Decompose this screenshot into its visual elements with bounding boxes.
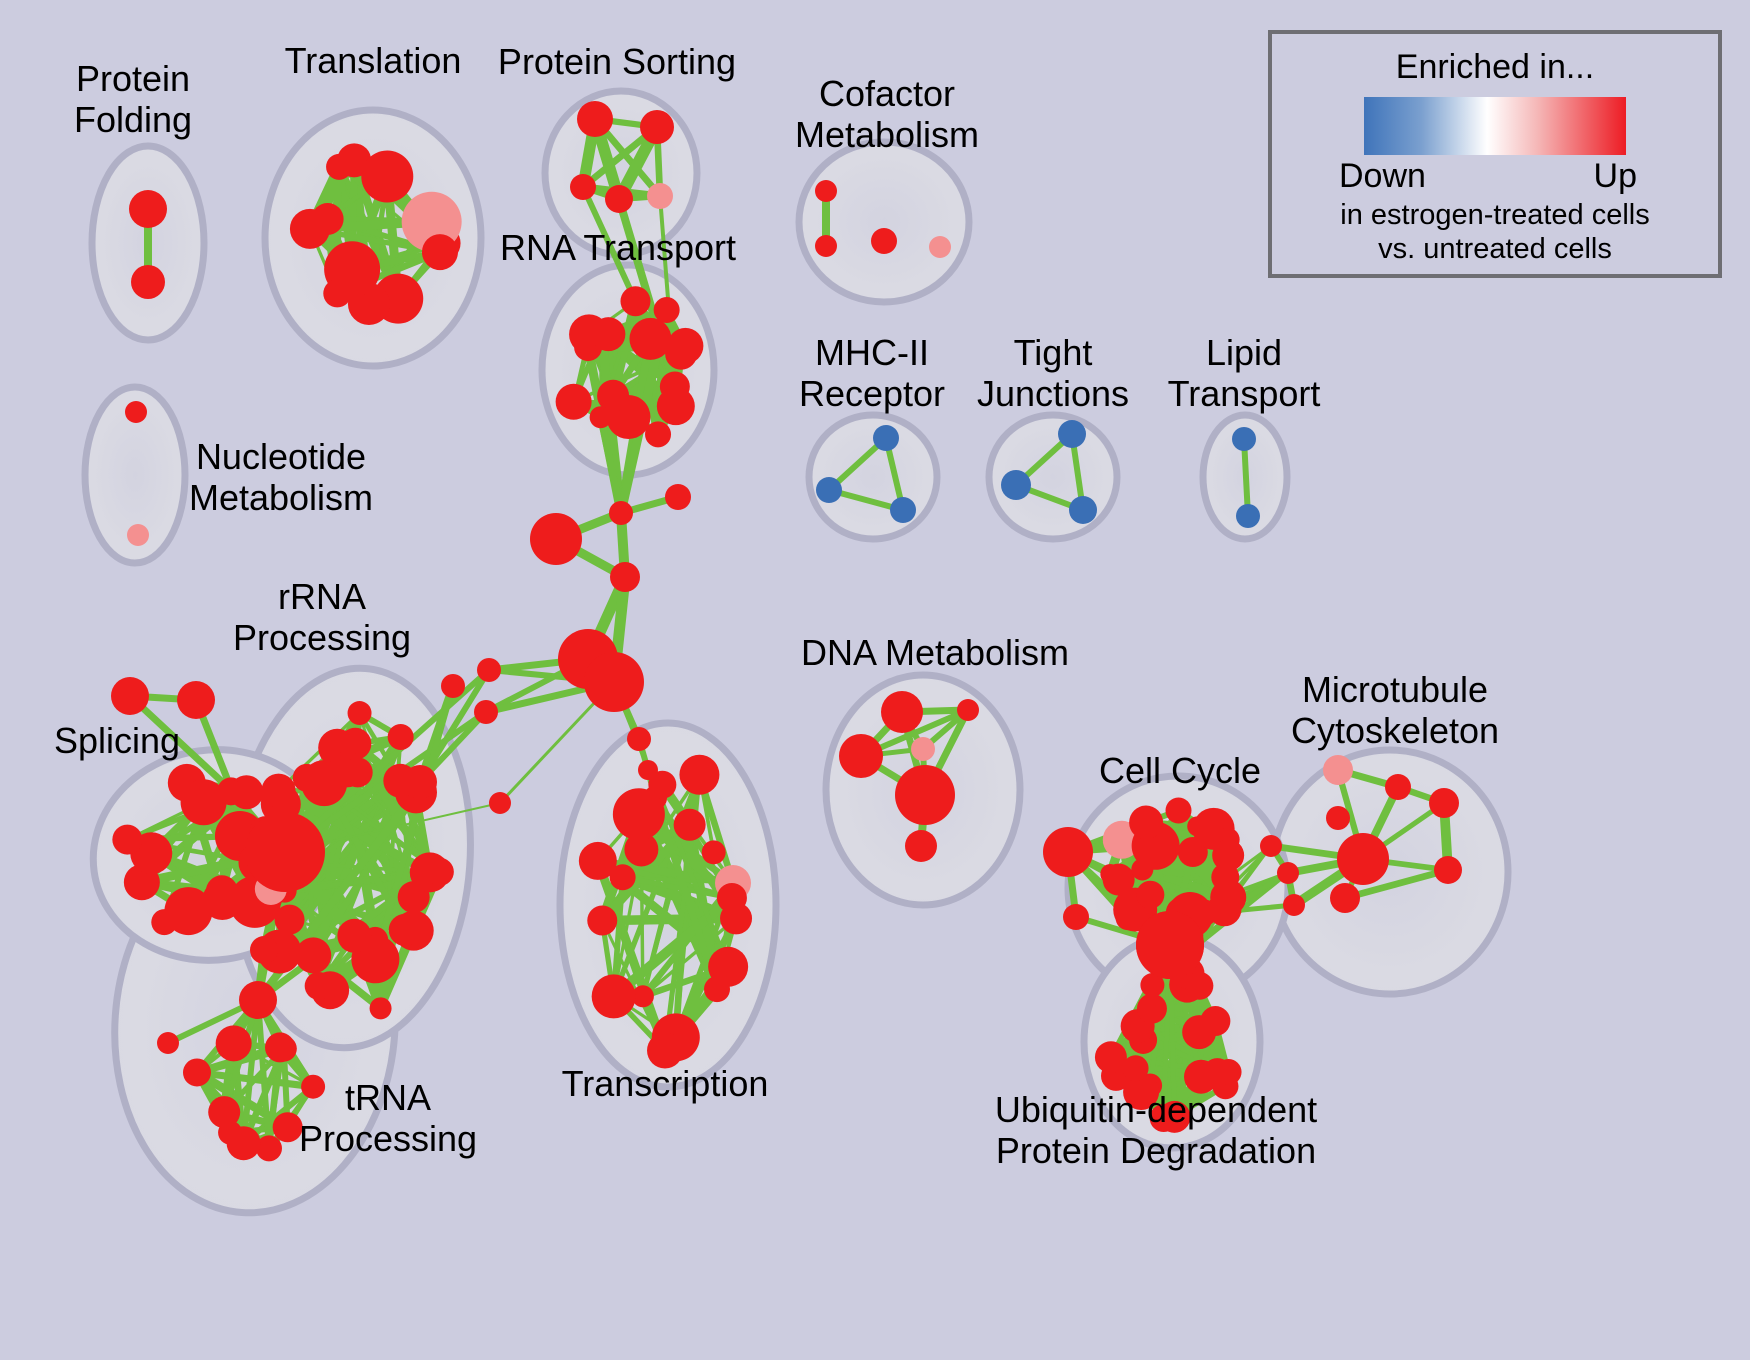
network-node[interactable]: [337, 919, 371, 953]
network-node[interactable]: [301, 1075, 325, 1099]
network-node[interactable]: [657, 387, 695, 425]
network-node[interactable]: [648, 771, 676, 799]
network-node[interactable]: [474, 700, 498, 724]
network-node[interactable]: [556, 384, 592, 420]
network-node[interactable]: [605, 185, 633, 213]
network-node[interactable]: [129, 190, 167, 228]
network-node[interactable]: [592, 974, 636, 1018]
network-node[interactable]: [627, 727, 651, 751]
network-node[interactable]: [275, 905, 305, 935]
legend-low-label: Down: [1339, 157, 1426, 196]
network-node[interactable]: [1260, 835, 1282, 857]
network-node[interactable]: [1166, 797, 1192, 823]
network-node[interactable]: [1158, 1101, 1190, 1133]
network-node[interactable]: [348, 701, 372, 725]
network-node[interactable]: [665, 484, 691, 510]
network-node[interactable]: [127, 524, 149, 546]
network-node[interactable]: [647, 1033, 683, 1069]
network-node[interactable]: [245, 812, 325, 892]
network-node[interactable]: [112, 825, 142, 855]
network-node[interactable]: [679, 755, 719, 795]
network-node[interactable]: [1063, 904, 1089, 930]
network-node[interactable]: [111, 677, 149, 715]
network-node[interactable]: [1337, 833, 1389, 885]
legend-panel: Enriched in... Down Up in estrogen-treat…: [1268, 30, 1722, 278]
network-node[interactable]: [295, 937, 331, 973]
legend-title: Enriched in...: [1272, 48, 1718, 87]
network-node[interactable]: [1137, 994, 1167, 1024]
network-node[interactable]: [157, 1032, 179, 1054]
network-node[interactable]: [1001, 470, 1031, 500]
network-node[interactable]: [1330, 883, 1360, 913]
network-node[interactable]: [403, 765, 437, 799]
network-node[interactable]: [1385, 774, 1411, 800]
network-node[interactable]: [610, 864, 636, 890]
legend-caption-line2: vs. untreated cells: [1272, 233, 1718, 267]
cluster-ellipse-mhc-ii-receptor: [809, 415, 937, 539]
network-figure: Protein Folding Translation Nucleotide M…: [0, 0, 1750, 1360]
network-node[interactable]: [873, 425, 899, 451]
network-node[interactable]: [1236, 504, 1260, 528]
network-node[interactable]: [239, 981, 277, 1019]
network-node[interactable]: [477, 658, 501, 682]
legend-caption-line1: in estrogen-treated cells: [1272, 199, 1718, 233]
network-node[interactable]: [667, 328, 703, 364]
network-node[interactable]: [177, 681, 215, 719]
network-node[interactable]: [957, 699, 979, 721]
network-node[interactable]: [610, 562, 640, 592]
network-node[interactable]: [262, 774, 296, 808]
network-node[interactable]: [208, 1096, 240, 1128]
network-node[interactable]: [1211, 863, 1239, 891]
network-node[interactable]: [570, 174, 596, 200]
legend-caption: in estrogen-treated cells vs. untreated …: [1272, 199, 1718, 266]
network-node[interactable]: [674, 809, 706, 841]
network-node[interactable]: [1323, 755, 1353, 785]
network-node[interactable]: [151, 909, 177, 935]
legend-endpoints: Down Up: [1345, 157, 1645, 197]
network-node[interactable]: [1136, 911, 1204, 979]
network-node[interactable]: [839, 734, 883, 778]
network-node[interactable]: [1185, 972, 1213, 1000]
network-node[interactable]: [654, 297, 680, 323]
network-node[interactable]: [422, 234, 458, 270]
network-node[interactable]: [640, 110, 674, 144]
network-node[interactable]: [645, 421, 671, 447]
network-node[interactable]: [183, 1058, 211, 1086]
network-node[interactable]: [702, 840, 726, 864]
network-node[interactable]: [290, 209, 330, 249]
network-node[interactable]: [323, 279, 351, 307]
network-node[interactable]: [265, 1032, 295, 1062]
network-node[interactable]: [577, 101, 613, 137]
network-node[interactable]: [1429, 788, 1459, 818]
network-node[interactable]: [370, 997, 392, 1019]
network-node[interactable]: [389, 914, 421, 946]
network-node[interactable]: [1326, 806, 1350, 830]
network-node[interactable]: [816, 477, 842, 503]
network-node[interactable]: [343, 757, 373, 787]
network-node[interactable]: [905, 830, 937, 862]
network-node[interactable]: [890, 497, 916, 523]
network-node[interactable]: [1058, 420, 1086, 448]
network-node[interactable]: [620, 286, 650, 316]
network-node[interactable]: [125, 401, 147, 423]
network-node[interactable]: [131, 265, 165, 299]
network-node[interactable]: [1129, 806, 1163, 840]
network-node[interactable]: [609, 501, 633, 525]
network-node[interactable]: [216, 1025, 252, 1061]
network-node[interactable]: [590, 406, 612, 428]
network-node[interactable]: [426, 858, 454, 886]
network-node[interactable]: [1277, 862, 1299, 884]
network-node[interactable]: [1103, 864, 1135, 896]
network-node[interactable]: [584, 652, 644, 712]
network-node[interactable]: [647, 183, 673, 209]
network-node[interactable]: [489, 792, 511, 814]
network-node[interactable]: [1283, 894, 1305, 916]
network-node[interactable]: [221, 780, 243, 802]
network-node[interactable]: [1184, 1060, 1218, 1094]
legend-high-label: Up: [1594, 157, 1637, 196]
network-node[interactable]: [587, 906, 617, 936]
network-node[interactable]: [361, 150, 413, 202]
network-node[interactable]: [1434, 856, 1462, 884]
network-node[interactable]: [1069, 496, 1097, 524]
network-node[interactable]: [1095, 1041, 1127, 1073]
network-node[interactable]: [273, 1112, 303, 1142]
network-node[interactable]: [305, 972, 333, 1000]
network-node[interactable]: [895, 765, 955, 825]
network-node[interactable]: [871, 228, 897, 254]
network-node[interactable]: [1182, 1015, 1216, 1049]
network-node[interactable]: [1232, 427, 1256, 451]
network-node[interactable]: [530, 513, 582, 565]
network-node[interactable]: [717, 883, 747, 913]
network-node[interactable]: [815, 235, 837, 257]
network-node[interactable]: [929, 236, 951, 258]
network-node[interactable]: [881, 691, 923, 733]
network-node[interactable]: [250, 936, 278, 964]
network-node[interactable]: [1216, 1059, 1242, 1085]
network-node[interactable]: [815, 180, 837, 202]
network-node[interactable]: [1043, 827, 1093, 877]
network-node[interactable]: [1136, 881, 1164, 909]
legend-colorbar: [1364, 97, 1626, 155]
network-node[interactable]: [388, 724, 414, 750]
network-node[interactable]: [591, 317, 625, 351]
cluster-ellipse-protein-sorting: [545, 91, 697, 255]
network-node[interactable]: [911, 737, 935, 761]
network-node[interactable]: [704, 976, 730, 1002]
network-node[interactable]: [441, 674, 465, 698]
